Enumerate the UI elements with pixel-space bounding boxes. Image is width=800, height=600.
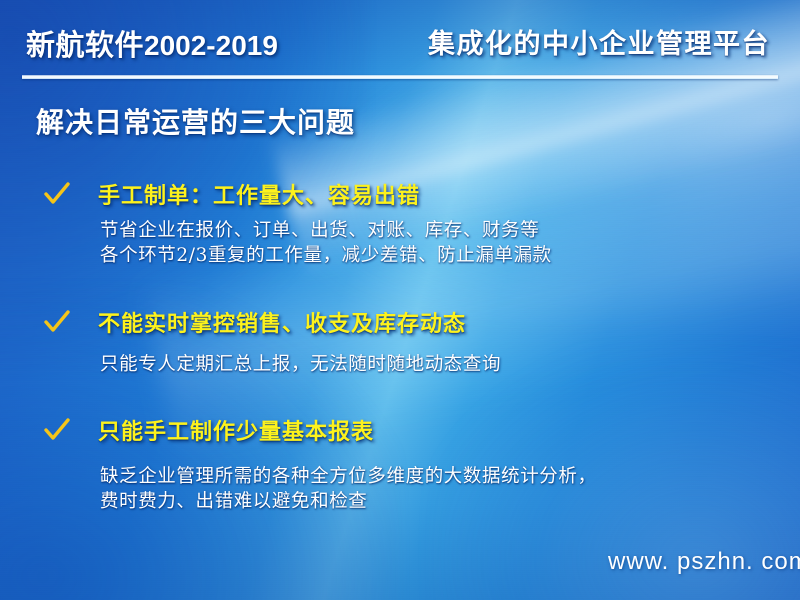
bullet-heading: 只能手工制作少量基本报表	[98, 414, 374, 446]
check-icon	[44, 182, 70, 208]
slide-root: 新航软件2002-2019 集成化的中小企业管理平台 解决日常运营的三大问题 手…	[0, 0, 800, 600]
check-icon	[44, 310, 70, 336]
bullet-heading: 不能实时掌控销售、收支及库存动态	[98, 306, 466, 338]
watermark: www. pszhn. com	[608, 548, 800, 576]
bullet-body: 节省企业在报价、订单、出货、对账、库存、财务等 各个环节2/3重复的工作量，减少…	[100, 218, 552, 268]
bullet-body: 缺乏企业管理所需的各种全方位多维度的大数据统计分析， 费时费力、出错难以避免和检…	[100, 464, 597, 514]
bullet-body: 只能专人定期汇总上报，无法随时随地动态查询	[100, 352, 501, 377]
bullet-heading: 手工制单：工作量大、容易出错	[98, 178, 420, 210]
bullet-body-line: 费时费力、出错难以避免和检查	[100, 489, 597, 514]
check-icon	[44, 418, 70, 444]
bullet-body-line: 各个环节2/3重复的工作量，减少差错、防止漏单漏款	[100, 243, 552, 268]
bullet-list: 手工制单：工作量大、容易出错 节省企业在报价、订单、出货、对账、库存、财务等 各…	[0, 0, 800, 600]
bullet-body-line: 只能专人定期汇总上报，无法随时随地动态查询	[100, 352, 501, 377]
bullet-body-line: 缺乏企业管理所需的各种全方位多维度的大数据统计分析，	[100, 464, 597, 489]
bullet-body-line: 节省企业在报价、订单、出货、对账、库存、财务等	[100, 218, 552, 243]
